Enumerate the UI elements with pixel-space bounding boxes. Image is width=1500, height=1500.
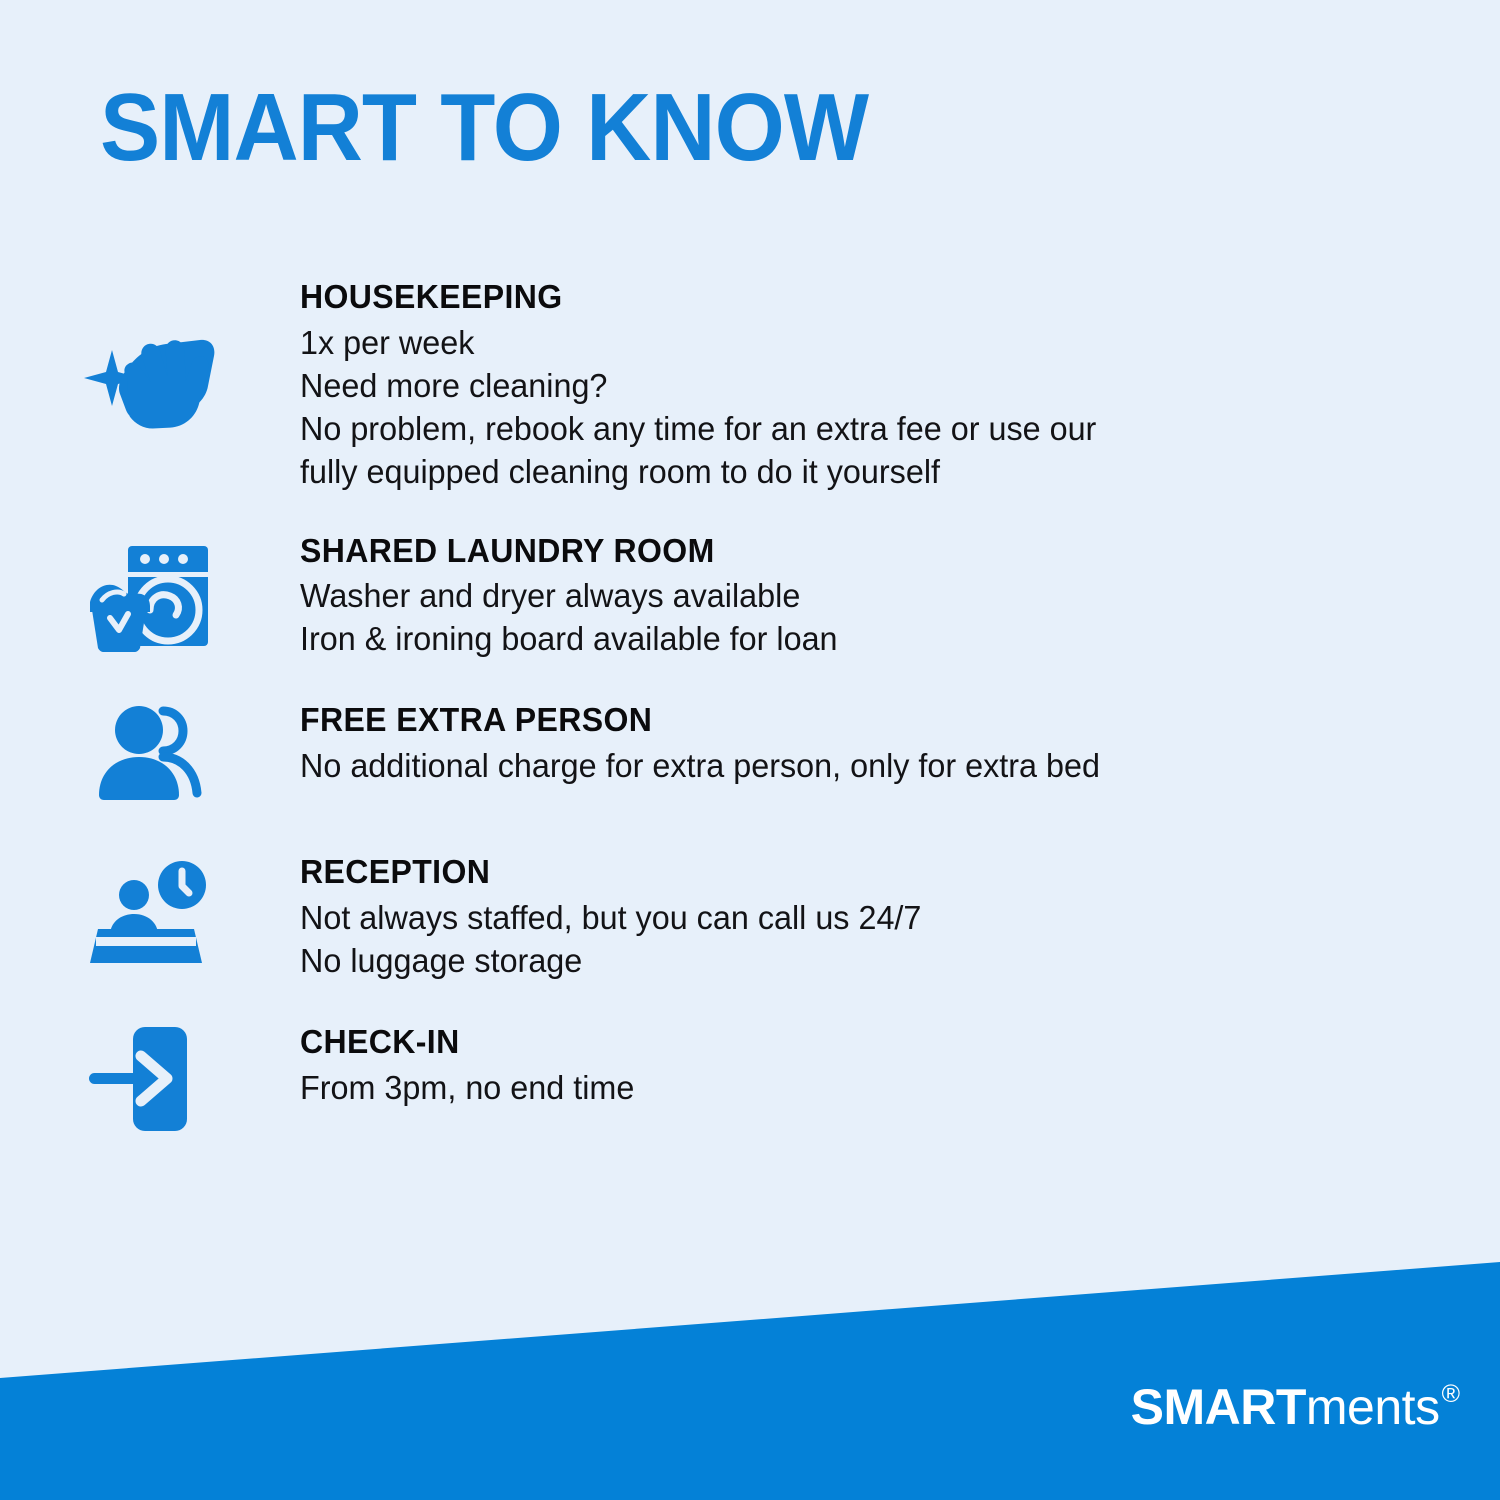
smartments-logo: SMARTments®	[1131, 1382, 1458, 1432]
text-container: HOUSEKEEPING 1x per week Need more clean…	[300, 278, 1500, 494]
text-container: RECEPTION Not always staffed, but you ca…	[300, 853, 1500, 983]
icon-container	[0, 278, 300, 446]
item-line: Not always staffed, but you can call us …	[300, 897, 1388, 940]
item-line: No luggage storage	[300, 940, 1388, 983]
info-list: HOUSEKEEPING 1x per week Need more clean…	[0, 278, 1500, 1135]
item-line: fully equipped cleaning room to do it yo…	[300, 451, 1388, 494]
logo-ments-text: ments	[1306, 1379, 1440, 1435]
washing-machine-icon	[88, 540, 212, 652]
item-line: Iron & ironing board available for loan	[300, 618, 1388, 661]
item-line: Washer and dryer always available	[300, 575, 1388, 618]
page-title: SMART TO KNOW	[100, 78, 868, 179]
icon-container	[0, 701, 300, 801]
icon-container	[0, 1023, 300, 1135]
list-item: RECEPTION Not always staffed, but you ca…	[0, 853, 1500, 983]
cleaning-hand-icon	[84, 328, 216, 446]
item-line: No additional charge for extra person, o…	[300, 745, 1388, 788]
item-line: Need more cleaning?	[300, 365, 1388, 408]
item-heading: HOUSEKEEPING	[300, 278, 1377, 317]
list-item: FREE EXTRA PERSON No additional charge f…	[0, 701, 1500, 811]
two-people-icon	[95, 701, 205, 801]
item-heading: SHARED LAUNDRY ROOM	[300, 532, 1377, 571]
item-heading: RECEPTION	[300, 853, 1377, 892]
item-heading: FREE EXTRA PERSON	[300, 701, 1377, 740]
list-item: SHARED LAUNDRY ROOM Washer and dryer alw…	[0, 532, 1500, 662]
item-line: 1x per week	[300, 322, 1388, 365]
icon-container	[0, 532, 300, 652]
icon-container	[0, 853, 300, 967]
registered-trademark-icon: ®	[1442, 1380, 1460, 1408]
text-container: SHARED LAUNDRY ROOM Washer and dryer alw…	[300, 532, 1500, 662]
item-line: No problem, rebook any time for an extra…	[300, 408, 1388, 451]
door-enter-arrow-icon	[89, 1023, 211, 1135]
item-line: From 3pm, no end time	[300, 1067, 1388, 1110]
list-item: CHECK-IN From 3pm, no end time	[0, 1023, 1500, 1135]
text-container: CHECK-IN From 3pm, no end time	[300, 1023, 1500, 1110]
item-heading: CHECK-IN	[300, 1023, 1377, 1062]
logo-smart-text: SMART	[1131, 1379, 1306, 1435]
list-item: HOUSEKEEPING 1x per week Need more clean…	[0, 278, 1500, 494]
text-container: FREE EXTRA PERSON No additional charge f…	[300, 701, 1500, 788]
reception-desk-clock-icon	[90, 859, 210, 967]
poster-root: SMART TO KNOW HOUSEKEEPING	[0, 0, 1500, 1500]
